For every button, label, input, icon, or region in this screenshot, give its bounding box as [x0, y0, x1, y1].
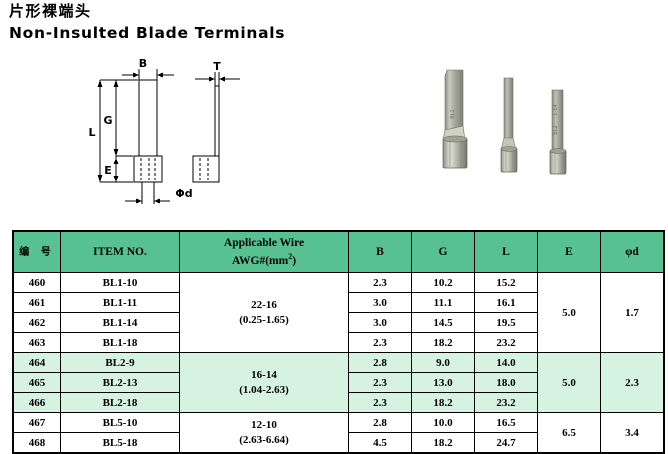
- svg-text:BL1: BL1: [450, 109, 456, 118]
- cell-serial-no: 464: [13, 353, 61, 373]
- cell-g: 10.2: [412, 273, 475, 293]
- technical-drawing: B L G E Φd T: [80, 58, 290, 208]
- cell-b: 3.0: [349, 313, 412, 333]
- cell-phi-d: 3.4: [601, 413, 665, 454]
- dimension-label-e: E: [104, 164, 112, 177]
- cell-item-no: BL5-18: [61, 433, 180, 454]
- specification-table-container: 编 号 ITEM NO. Applicable Wire AWG#(mm2) B…: [12, 230, 656, 454]
- cell-l: 16.5: [475, 413, 538, 433]
- cell-l: 19.5: [475, 313, 538, 333]
- cell-l: 14.0: [475, 353, 538, 373]
- cell-serial-no: 462: [13, 313, 61, 333]
- cell-b: 3.0: [349, 293, 412, 313]
- blade-terminals-photo: BL1 1-14 BL2: [425, 64, 605, 204]
- cell-b: 4.5: [349, 433, 412, 454]
- cell-g: 13.0: [412, 373, 475, 393]
- cell-l: 23.2: [475, 393, 538, 413]
- page-title-english: Non-Insulted Blade Terminals: [9, 24, 285, 43]
- cell-serial-no: 461: [13, 293, 61, 313]
- dimension-label-t: T: [213, 60, 221, 73]
- cell-g: 11.1: [412, 293, 475, 313]
- cell-g: 9.0: [412, 353, 475, 373]
- cell-phi-d: 2.3: [601, 353, 665, 413]
- table-row: 460BL1-1022-16(0.25-1.65)2.310.215.25.01…: [13, 273, 664, 293]
- column-header-phi-d: φd: [601, 231, 665, 273]
- cell-e: 5.0: [538, 353, 601, 413]
- cell-serial-no: 468: [13, 433, 61, 454]
- cell-b: 2.8: [349, 413, 412, 433]
- column-header-b: B: [349, 231, 412, 273]
- column-header-item-no: ITEM NO.: [61, 231, 180, 273]
- cell-serial-no: 467: [13, 413, 61, 433]
- page-title-chinese: 片形裸端头: [9, 2, 92, 21]
- cell-g: 14.5: [412, 313, 475, 333]
- cell-g: 18.2: [412, 393, 475, 413]
- specification-table: 编 号 ITEM NO. Applicable Wire AWG#(mm2) B…: [12, 230, 665, 454]
- cell-l: 23.2: [475, 333, 538, 353]
- cell-item-no: BL1-18: [61, 333, 180, 353]
- cell-l: 16.1: [475, 293, 538, 313]
- table-row: 467BL5-1012-10(2.63-6.64)2.810.016.56.53…: [13, 413, 664, 433]
- dimension-label-l: L: [88, 126, 95, 139]
- cell-serial-no: 466: [13, 393, 61, 413]
- cell-applicable-wire: 12-10(2.63-6.64): [180, 413, 349, 454]
- dimension-label-g: G: [103, 114, 112, 127]
- table-row: 464BL2-916-14(1.04-2.63)2.89.014.05.02.3: [13, 353, 664, 373]
- cell-item-no: BL2-18: [61, 393, 180, 413]
- cell-g: 18.2: [412, 433, 475, 454]
- cell-b: 2.3: [349, 373, 412, 393]
- cell-applicable-wire: 16-14(1.04-2.63): [180, 353, 349, 413]
- cell-serial-no: 465: [13, 373, 61, 393]
- column-header-serial-no: 编 号: [13, 231, 61, 273]
- cell-serial-no: 460: [13, 273, 61, 293]
- cell-phi-d: 1.7: [601, 273, 665, 353]
- cell-b: 2.3: [349, 273, 412, 293]
- svg-text:BL2: BL2: [553, 125, 559, 134]
- cell-item-no: BL1-10: [61, 273, 180, 293]
- cell-b: 2.8: [349, 353, 412, 373]
- cell-l: 24.7: [475, 433, 538, 454]
- cell-applicable-wire: 22-16(0.25-1.65): [180, 273, 349, 353]
- table-header-row: 编 号 ITEM NO. Applicable Wire AWG#(mm2) B…: [13, 231, 664, 273]
- cell-item-no: BL2-13: [61, 373, 180, 393]
- cell-l: 18.0: [475, 373, 538, 393]
- svg-text:1-14: 1-14: [553, 104, 559, 115]
- cell-item-no: BL2-9: [61, 353, 180, 373]
- cell-g: 10.0: [412, 413, 475, 433]
- cell-item-no: BL1-14: [61, 313, 180, 333]
- cell-item-no: BL5-10: [61, 413, 180, 433]
- cell-item-no: BL1-11: [61, 293, 180, 313]
- cell-serial-no: 463: [13, 333, 61, 353]
- illustration-band: B L G E Φd T: [0, 58, 668, 216]
- table-body: 460BL1-1022-16(0.25-1.65)2.310.215.25.01…: [13, 273, 664, 454]
- cell-b: 2.3: [349, 393, 412, 413]
- cell-g: 18.2: [412, 333, 475, 353]
- cell-l: 15.2: [475, 273, 538, 293]
- column-header-e: E: [538, 231, 601, 273]
- dimension-label-phi-d: Φd: [175, 187, 192, 200]
- dimension-label-b: B: [139, 58, 147, 70]
- column-header-g: G: [412, 231, 475, 273]
- cell-b: 2.3: [349, 333, 412, 353]
- cell-e: 6.5: [538, 413, 601, 454]
- column-header-applicable-wire: Applicable Wire AWG#(mm2): [180, 231, 349, 273]
- cell-e: 5.0: [538, 273, 601, 353]
- column-header-l: L: [475, 231, 538, 273]
